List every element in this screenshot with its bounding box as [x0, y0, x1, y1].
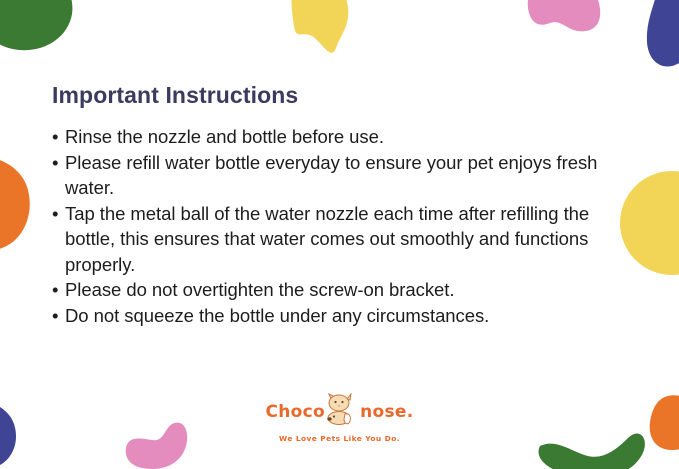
logo-wordmark: Choco	[266, 393, 414, 427]
list-item-text: Rinse the nozzle and bottle before use.	[65, 126, 384, 147]
list-item: • Please do not overtighten the screw-on…	[52, 277, 632, 303]
bullet-dot-icon: •	[52, 303, 58, 329]
list-item: • Please refill water bottle everyday to…	[52, 150, 632, 201]
bullet-dot-icon: •	[52, 201, 58, 227]
instructions-card: Important Instructions • Rinse the nozzl…	[0, 0, 679, 469]
list-item: • Do not squeeze the bottle under any ci…	[52, 303, 632, 329]
dog-head-icon	[327, 412, 350, 425]
bullet-dot-icon: •	[52, 150, 58, 176]
logo-word-nose: nose.	[360, 402, 413, 422]
instructions-list: • Rinse the nozzle and bottle before use…	[52, 124, 632, 328]
list-item-text: Please refill water bottle everyday to e…	[65, 152, 597, 199]
card-content: Important Instructions • Rinse the nozzl…	[0, 0, 679, 469]
list-item: • Tap the metal ball of the water nozzle…	[52, 201, 632, 278]
cat-and-dog-icon	[322, 393, 362, 427]
brand-logo: Choco	[0, 393, 679, 443]
list-item-text: Tap the metal ball of the water nozzle e…	[65, 203, 589, 275]
logo-tagline: We Love Pets Like You Do.	[0, 434, 679, 443]
page-title: Important Instructions	[52, 82, 298, 109]
logo-word-choco: Choco	[266, 402, 326, 422]
bullet-dot-icon: •	[52, 124, 58, 150]
cat-head-icon	[329, 394, 351, 411]
bullet-dot-icon: •	[52, 277, 58, 303]
list-item-text: Do not squeeze the bottle under any circ…	[65, 305, 489, 326]
list-item: • Rinse the nozzle and bottle before use…	[52, 124, 632, 150]
list-item-text: Please do not overtighten the screw-on b…	[65, 279, 454, 300]
